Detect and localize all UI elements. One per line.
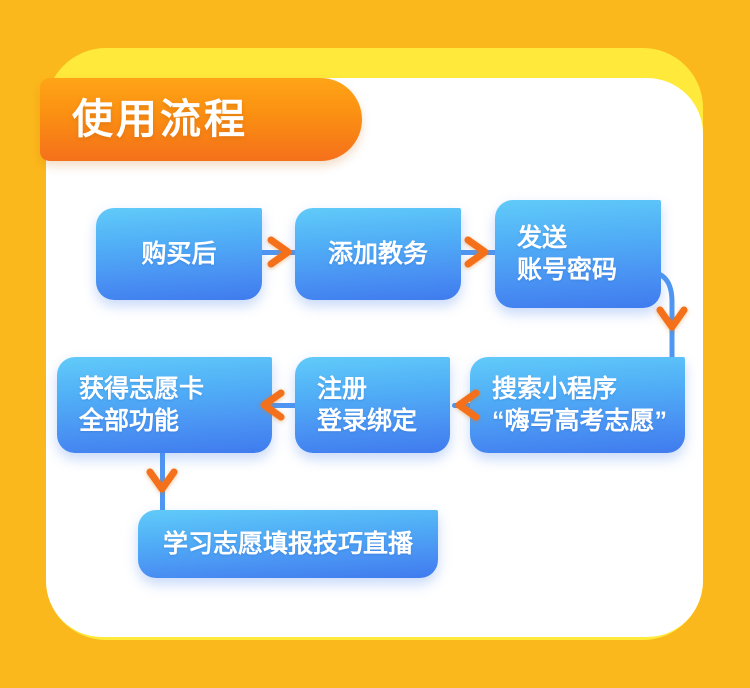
flow-step-label: 添加教务 [328,238,428,271]
flow-step-label: 购买后 [141,238,216,271]
flow-step-register-login-bind[interactable]: 注册 登录绑定 [295,357,450,453]
flow-step-label-line1: 发送 [517,222,567,255]
flow-step-send-credentials[interactable]: 发送 账号密码 [495,200,661,308]
flow-step-label-line1: 注册 [317,373,367,406]
flow-step-label-line2: 全部功能 [79,405,179,438]
flow-step-add-staff[interactable]: 添加教务 [295,208,461,300]
flow-step-watch-livestream[interactable]: 学习志愿填报技巧直播 [138,510,438,578]
flow-diagram-poster: 使用流程 购买后 添加教务 发送 账号密码 搜索小程序 “嗨写高考志愿” 注册 … [0,0,750,688]
flow-step-get-full-features[interactable]: 获得志愿卡 全部功能 [57,357,272,453]
flow-step-label: 学习志愿填报技巧直播 [163,528,413,561]
flow-step-label-line1: 搜索小程序 [492,373,617,406]
flow-step-label-line2: 登录绑定 [317,405,417,438]
flow-step-label-line1: 获得志愿卡 [79,373,204,406]
section-header-banner: 使用流程 [40,78,362,161]
flow-step-search-miniprogram[interactable]: 搜索小程序 “嗨写高考志愿” [470,357,685,453]
flow-step-label-line2: 账号密码 [517,254,617,287]
flow-step-label-line2: “嗨写高考志愿” [492,405,667,438]
flow-step-purchase[interactable]: 购买后 [96,208,262,300]
page-title: 使用流程 [72,99,248,140]
